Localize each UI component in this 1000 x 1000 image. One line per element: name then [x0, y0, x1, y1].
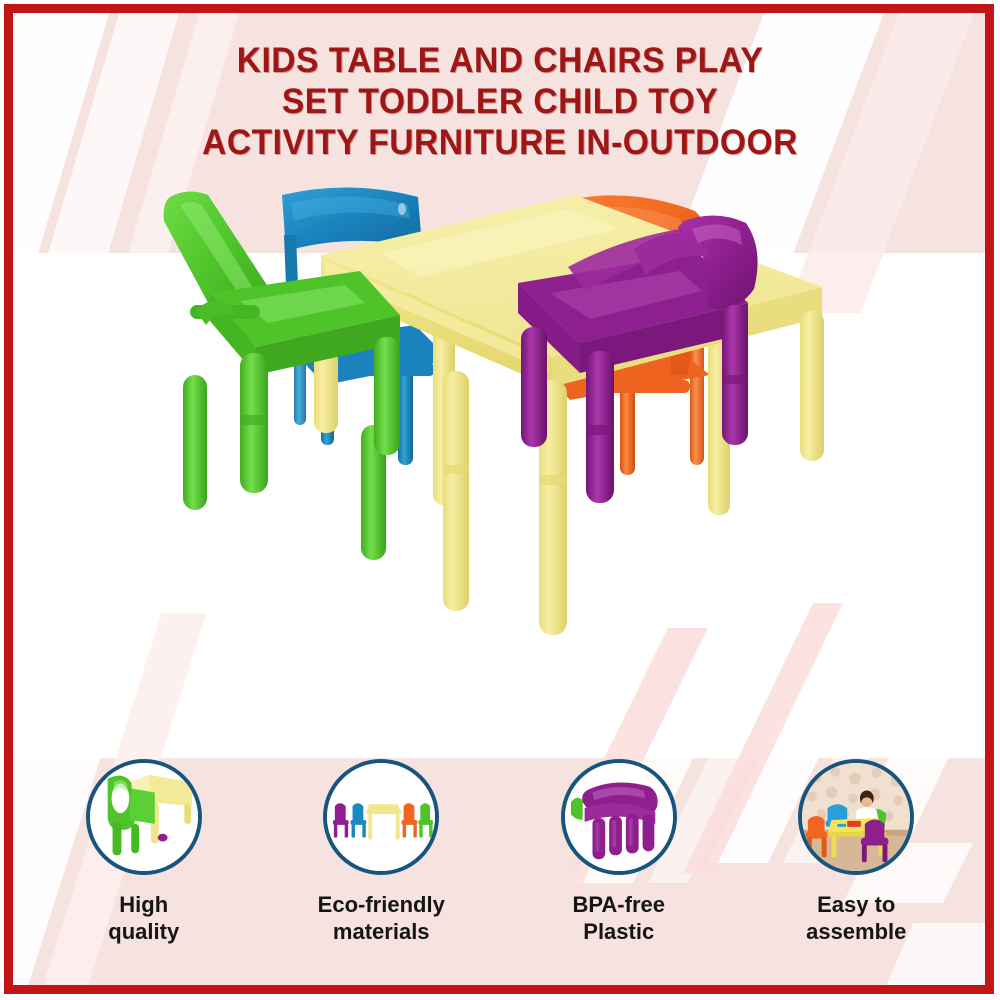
feature-label-bpa-free: BPA-free Plastic [572, 891, 665, 945]
feature-icon-circle-easy-assemble [798, 759, 914, 875]
title-line-2: SET TODDLER CHILD TOY [20, 81, 980, 122]
feature-icon-circle-high-quality [86, 759, 202, 875]
feature-easy-to-assemble: Easy to assemble [738, 759, 976, 974]
feature-row: High quality [25, 759, 975, 974]
feature-icon-circle-eco-friendly [323, 759, 439, 875]
upside-down-chair-icon [565, 763, 673, 871]
feature-label-eco-friendly: Eco-friendly materials [318, 891, 445, 945]
feature-bpa-free-plastic: BPA-free Plastic [500, 759, 738, 974]
product-hero-image [150, 175, 850, 695]
chair-lineup-icon [327, 763, 435, 871]
feature-icon-circle-bpa-free [561, 759, 677, 875]
feature-high-quality: High quality [25, 759, 263, 974]
chair-table-closeup-icon [90, 763, 198, 871]
feature-label-easy-assemble: Easy to assemble [806, 891, 906, 945]
title-line-1: KIDS TABLE AND CHAIRS PLAY [20, 40, 980, 81]
feature-eco-friendly-materials: Eco-friendly materials [263, 759, 501, 974]
child-at-table-room-icon [802, 763, 910, 871]
title-line-3: ACTIVITY FURNITURE IN-OUTDOOR [20, 122, 980, 163]
poster-title: KIDS TABLE AND CHAIRS PLAY SET TODDLER C… [20, 40, 980, 163]
product-poster: KIDS TABLE AND CHAIRS PLAY SET TODDLER C… [0, 0, 1000, 1000]
feature-label-high-quality: High quality [108, 891, 179, 945]
